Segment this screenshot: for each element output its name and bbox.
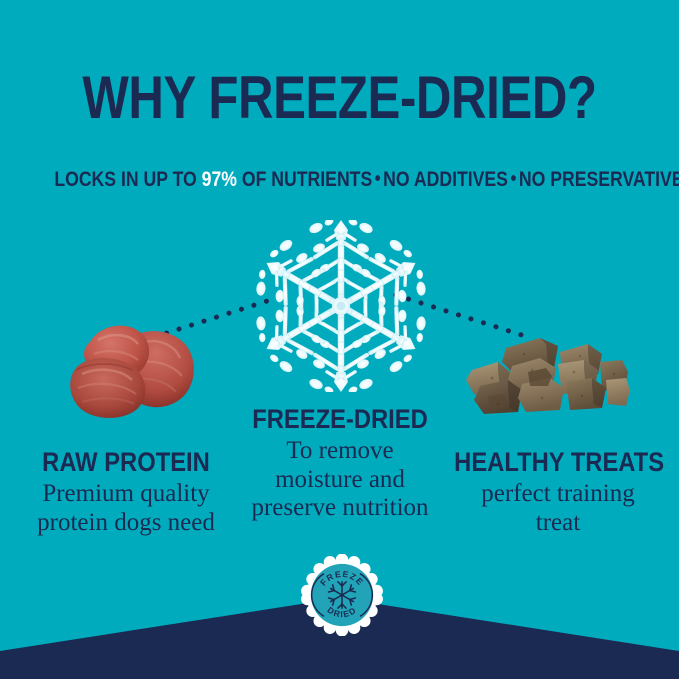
freeze-dried-badge: FREEZE DRIED — [301, 554, 383, 636]
raw-meat-image — [52, 312, 202, 424]
column-body-line: To remove — [222, 437, 458, 466]
freeze-dried-treats-image — [462, 318, 630, 426]
freeze-dried-infographic: WHY FREEZE-DRIED? LOCKS IN UP TO 97% OF … — [0, 0, 679, 679]
page-title: WHY FREEZE-DRIED? — [61, 68, 618, 128]
column-raw-protein: RAW PROTEIN Premium quality protein dogs… — [6, 448, 246, 537]
column-title-freeze-dried: FREEZE-DRIED — [236, 405, 444, 433]
snowflake-crystal-image — [256, 220, 426, 392]
column-title-raw-protein: RAW PROTEIN — [20, 448, 231, 476]
claim-no-additives: NO ADDITIVES — [383, 168, 508, 191]
column-body-line: moisture and — [222, 466, 458, 495]
column-freeze-dried: FREEZE-DRIED To remove moisture and pres… — [222, 405, 458, 523]
column-healthy-treats: HEALTHY TREATS perfect training treat — [440, 448, 676, 537]
column-body-freeze-dried: To remove moisture and preserve nutritio… — [222, 437, 458, 523]
column-body-line: perfect training — [440, 480, 676, 509]
column-body-line: treat — [440, 509, 676, 538]
nutrient-percent: 97% — [202, 168, 237, 191]
column-body-line: Premium quality — [6, 480, 246, 509]
subheadline: LOCKS IN UP TO 97% OF NUTRIENTS•NO ADDIT… — [54, 169, 624, 190]
claim-no-preservatives: NO PRESERVATIVES — [519, 168, 679, 191]
column-body-line: protein dogs need — [6, 509, 246, 538]
bullet-separator-1: • — [372, 168, 383, 190]
column-body-raw-protein: Premium quality protein dogs need — [6, 480, 246, 537]
column-body-line: preserve nutrition — [222, 494, 458, 523]
column-title-healthy-treats: HEALTHY TREATS — [454, 448, 662, 476]
column-body-healthy-treats: perfect training treat — [440, 480, 676, 537]
subheadline-part2: OF NUTRIENTS — [237, 168, 372, 191]
subheadline-part1: LOCKS IN UP TO — [54, 168, 201, 191]
bullet-separator-2: • — [508, 168, 519, 190]
